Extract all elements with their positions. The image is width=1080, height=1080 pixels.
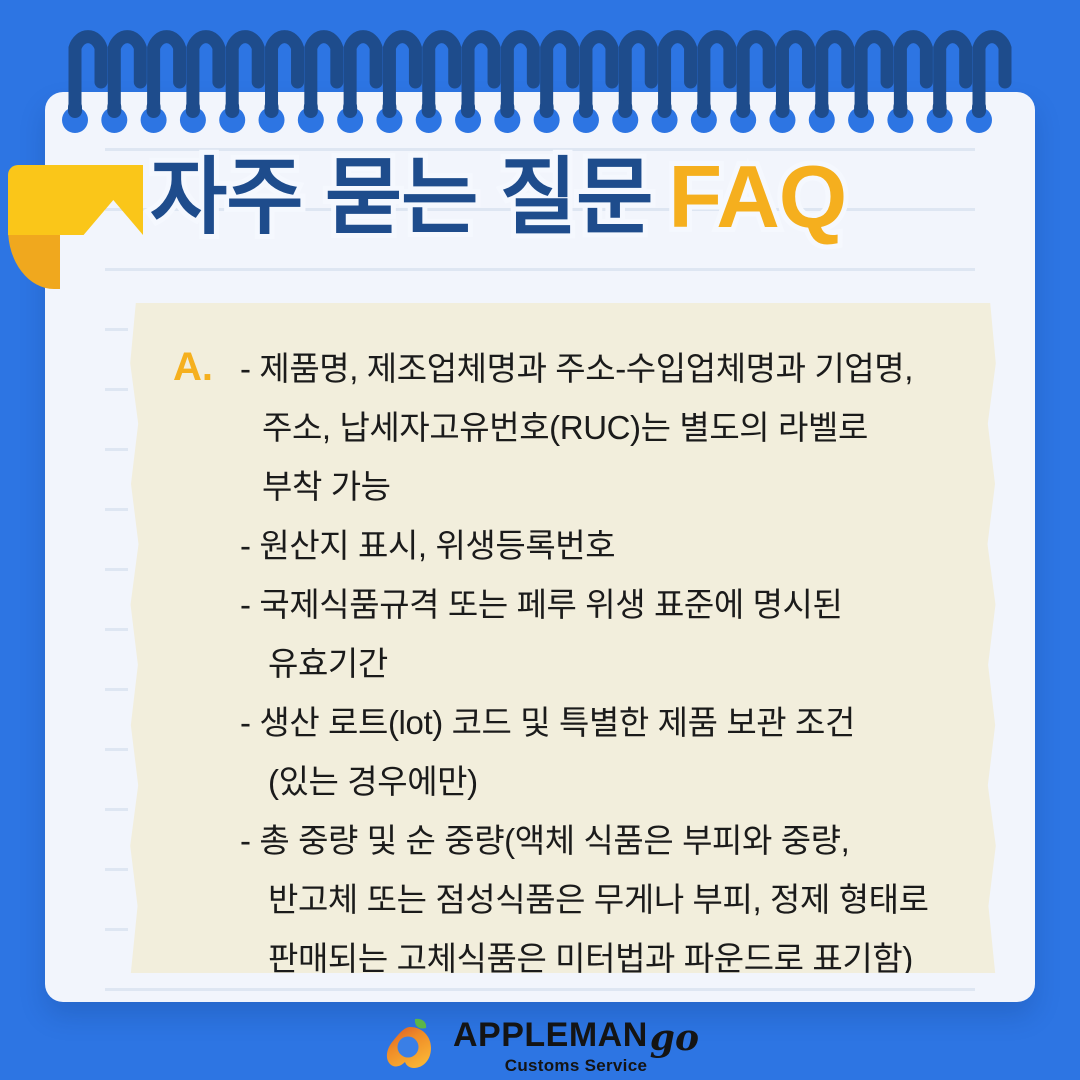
- ribbon-fold: [8, 227, 60, 289]
- title-faq: FAQ: [668, 153, 846, 241]
- ribbon-main: [8, 165, 143, 235]
- faq-card: A. - 제품명, 제조업체명과 주소-수입업체명과 기업명,주소, 납세자고유…: [0, 0, 1080, 1080]
- applemango-apple-icon: [381, 1016, 439, 1074]
- footer-logo: APPLEMAN go Customs Service: [0, 1010, 1080, 1080]
- answer-text: - 제품명, 제조업체명과 주소-수입업체명과 기업명,주소, 납세자고유번호(…: [240, 339, 980, 973]
- answer-line: - 원산지 표시, 위생등록번호: [240, 516, 980, 575]
- logo-tagline: Customs Service: [505, 1057, 647, 1074]
- answer-line: 판매되는 고체식품은 미터법과 파운드로 표기함): [240, 929, 980, 973]
- logo-brand: APPLEMAN: [453, 1018, 648, 1052]
- answer-line: 주소, 납세자고유번호(RUC)는 별도의 라벨로: [240, 398, 980, 457]
- rule-line: [105, 988, 975, 991]
- answer-block: A. - 제품명, 제조업체명과 주소-수입업체명과 기업명,주소, 납세자고유…: [128, 303, 998, 973]
- answer-line: - 생산 로트(lot) 코드 및 특별한 제품 보관 조건: [240, 693, 980, 752]
- rule-line: [105, 268, 975, 271]
- ribbon-banner-icon: [0, 165, 160, 290]
- answer-line: 부착 가능: [240, 457, 980, 516]
- answer-line: 반고체 또는 점성식품은 무게나 부피, 정제 형태로: [240, 870, 980, 929]
- answer-line: - 제품명, 제조업체명과 주소-수입업체명과 기업명,: [240, 339, 980, 398]
- answer-line: - 총 중량 및 순 중량(액체 식품은 부피와 중량,: [240, 811, 980, 870]
- answer-marker: A.: [173, 347, 213, 387]
- page-title: 자주 묻는 질문FAQ: [150, 142, 846, 252]
- answer-line: (있는 경우에만): [240, 752, 980, 811]
- logo-brand-suffix: go: [650, 1020, 699, 1056]
- title-korean: 자주 묻는 질문: [150, 155, 652, 239]
- answer-line: - 국제식품규격 또는 페루 위생 표준에 명시된: [240, 575, 980, 634]
- answer-line: 유효기간: [240, 634, 980, 693]
